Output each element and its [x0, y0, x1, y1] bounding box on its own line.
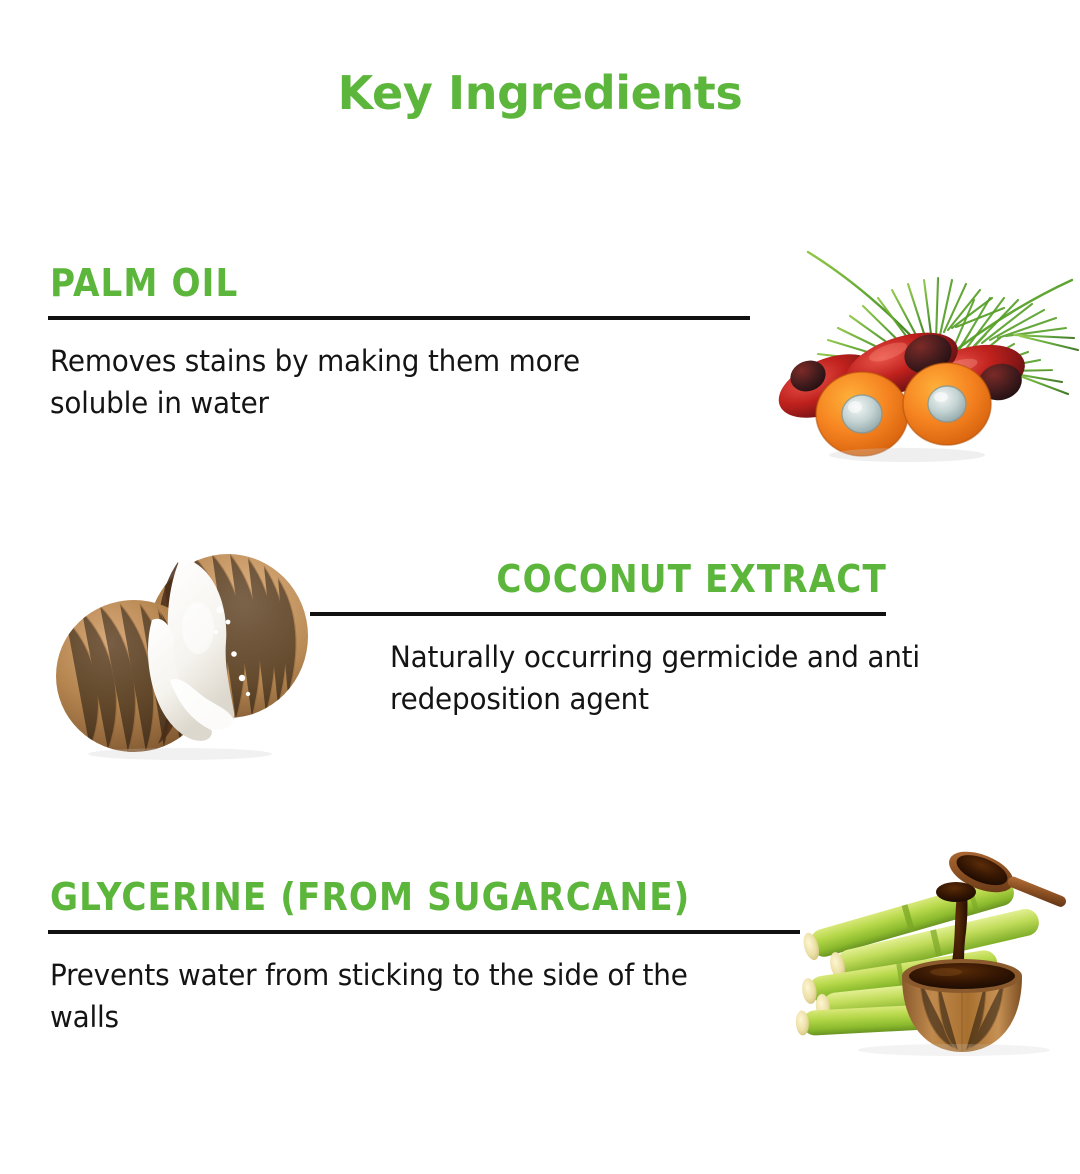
ingredient-description-palm-oil: Removes stains by making them more solub…	[50, 340, 664, 424]
sugarcane-and-molasses-illustration	[786, 846, 1080, 1054]
ingredient-heading-palm-oil: PALM OIL	[50, 264, 238, 302]
ingredient-heading-coconut-extract: COCONUT EXTRACT	[497, 560, 887, 598]
heading-divider-rule	[310, 612, 886, 616]
ingredient-heading-glycerine-sugarcane: GLYCERINE (FROM SUGARCANE)	[50, 878, 690, 916]
ingredients-infographic: Key Ingredients PALM OIL Removes stains …	[0, 0, 1080, 1174]
palm-fruit-illustration	[742, 236, 1080, 466]
heading-divider-rule	[48, 316, 750, 320]
ingredient-description-coconut-extract: Naturally occurring germicide and anti r…	[390, 636, 995, 720]
heading-divider-rule	[48, 930, 800, 934]
ingredient-description-glycerine-sugarcane: Prevents water from sticking to the side…	[50, 954, 703, 1038]
cracked-coconut-illustration	[52, 528, 320, 760]
page-title: Key Ingredients	[0, 66, 1080, 120]
